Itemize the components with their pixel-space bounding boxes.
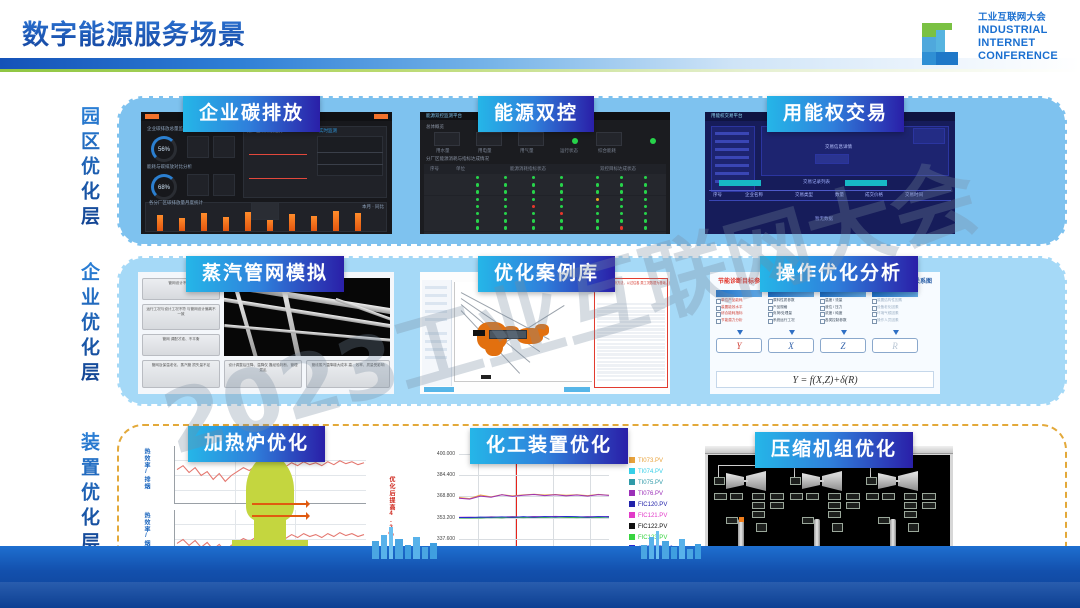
legend-swatch [629,534,635,540]
case-scatter-plot [454,282,592,382]
legend-label: FIC120.PV [638,502,667,508]
steam-box-6: 管线蒸汽温降增大成本 高、效率、质量受影响 [306,360,390,388]
list-item [597,310,665,312]
legend-label: TI073.PV [638,458,663,464]
status-dot [596,219,599,222]
list-item [597,317,665,319]
table-row [424,217,666,224]
page-header: 数字能源服务场景 工业互联网大会 INDUSTRIAL INTERNET CON… [0,0,1080,92]
down-arrow-icon [737,330,743,335]
status-dot [476,219,479,222]
legend-swatch [629,468,635,474]
status-dot [476,183,479,186]
down-arrow-icon [789,330,795,335]
legend-label: FIC121.PV [638,513,667,519]
opa-formula: Y = f(X,Z)+δ(R) [716,371,934,388]
list-item [597,375,665,377]
steam-box-5: 设计调整后压降、温降仅 靠经验判断、管理混乱 [224,360,302,388]
header-accent-bar [0,58,1080,69]
table-row [424,181,666,188]
opa-item[interactable]: 节能潜力分析 [716,317,762,324]
opa-item[interactable]: 系统运行工况 [768,317,814,324]
card-title-optimization-case-library: 优化案例库 [478,256,615,292]
list-item [597,343,665,345]
opa-item[interactable]: 各类控制参数 [820,317,866,324]
list-item [597,332,665,334]
legend-swatch [629,479,635,485]
logo-line-conference: CONFERENCE [978,50,1070,63]
table-row [424,203,666,210]
list-item [597,371,665,373]
opa-variable-R: R [872,338,918,353]
status-dot [560,183,563,186]
legend-item: TI073.PV [629,456,673,467]
card-title-energy-dual-control: 能源双控 [478,96,594,132]
list-item [597,379,665,381]
opa-variable-Y: Y [716,338,762,353]
list-item [597,353,665,355]
list-item [597,303,665,305]
status-dot [620,219,623,222]
status-dot [620,183,623,186]
down-arrow-icon [841,330,847,335]
card-operation-optimization-analysis[interactable]: 节能诊断目标参数与影响因素分析 因子/关系图 单位产品能耗装置能效水平综合能耗指… [710,272,940,394]
logo-text: 工业互联网大会 INDUSTRIAL INTERNET CONFERENCE [978,12,1070,63]
card-carbon-emission[interactable]: 企业碳排放总量监控 56% 能耗与碳排放对比分析 68% 分厂区碳排放趋势 实时… [141,112,392,234]
legend-item: TI074.PV [629,467,673,478]
opa-column-1: 单位产品能耗装置能效水平综合能耗指标节能潜力分析 [716,290,762,323]
card-optimization-case-library[interactable]: 优化案例分析方法，以过往各 类工况数据为基础，归纳总结出 同类装置最优操作条件下… [420,272,670,394]
table-row [424,174,666,181]
list-item [597,335,665,337]
legend-item: FIC121.PV [629,511,673,522]
table-row [424,210,666,217]
conference-logo: 工业互联网大会 INDUSTRIAL INTERNET CONFERENCE [920,7,1070,79]
list-item [597,361,665,363]
card-energy-dual-control[interactable]: 能源双控监测平台 总体概览 用水量 用电量 用气量 运行状态 综合能耗 分厂区能… [420,112,670,234]
legend-swatch [629,457,635,463]
opa-item[interactable]: 操作人员因素 [872,317,918,324]
down-arrow-icon [893,330,899,335]
y-axis-tick: 384.400 [437,472,455,478]
legend-swatch [629,523,635,529]
layer-label-park: 园区优化层 [62,106,102,231]
card-title-steam-pipe-simulation: 蒸汽管网模拟 [186,256,344,292]
footer-wave [0,582,1080,608]
city-skyline-left [370,525,440,564]
status-dot [644,219,647,222]
card-title-energy-rights-trading: 用能权交易 [767,96,904,132]
page-title: 数字能源服务场景 [22,13,246,52]
steam-box-4: 管网及保温老化、蒸汽管 损失量不足 [142,360,220,388]
status-dot [532,219,535,222]
steam-box-2: 运行工况与设计工况不符 与管网设计偏离不一致 [142,304,220,330]
legend-label: TI075.PV [638,480,663,486]
status-dot [532,183,535,186]
header-accent-bar-green [0,69,1080,72]
list-item [597,314,665,316]
opa-variable-Z: Z [820,338,866,353]
card-title-chemical-plant-optimization: 化工装置优化 [470,428,628,464]
layer-label-enterprise: 企业优化层 [62,262,102,387]
card-energy-rights-trading[interactable]: 用能权交易平台 交易信息详情 交易记录列表 序号 企业名称 交易类型 数量 成交… [705,112,955,234]
list-item [597,368,665,370]
opa-variable-X: X [768,338,814,353]
y-axis-tick: 368.800 [437,493,455,499]
list-item [597,321,665,323]
y-axis-tick: 353.200 [437,515,455,521]
status-dot [644,183,647,186]
list-item [597,328,665,330]
chemical-line-chart: 400.000384.400368.800353.200337.600322.0… [459,454,609,560]
opa-column-2: 原料性质参数产品规格负荷/处理量系统运行工况 [768,290,814,323]
case-result-table: 优化案例分析方法，以过往各 类工况数据为基础，归纳总结出 同类装置最优操作条件下… [594,278,668,388]
opa-column-head [716,290,762,297]
logo-mark-icon [920,19,972,71]
list-item [597,339,665,341]
list-item [597,346,665,348]
status-dot [504,183,507,186]
furnace-ylabel-top: 热效率/排烟 [142,448,151,490]
list-item [597,325,665,327]
legend-item: TI076.PV [629,489,673,500]
card-title-heating-furnace-optimization: 加热炉优化 [188,426,325,462]
list-item [597,350,665,352]
table-row [424,224,666,231]
logo-line-internet: INTERNET [978,37,1070,50]
table-row [424,232,666,234]
opa-column-3: 温度 / 流量液位 / 压力浓度 / 纯度各类控制参数 [820,290,866,323]
table-row [424,196,666,203]
legend-swatch [629,501,635,507]
steam-box-3: 管网 调配才准、不平衡 [142,334,220,356]
card-title-operation-optimization-analysis: 操作优化分析 [760,256,918,292]
card-steam-pipe-simulation[interactable]: 管网设计不合理 运行工况与设计工况不符 与管网设计偏离不一致 管网 调配才准、不… [138,272,394,394]
page-footer [0,546,1080,608]
card-title-compressor-unit-optimization: 压缩机组优化 [755,432,913,468]
legend-item: FIC120.PV [629,500,673,511]
list-item [597,357,665,359]
status-dot [560,219,563,222]
city-skyline-right [640,529,702,564]
y-axis-tick: 400.000 [437,451,455,457]
legend-item: TI075.PV [629,478,673,489]
list-item [597,307,665,309]
legend-swatch [629,490,635,496]
card-title-carbon-emission: 企业碳排放 [183,96,320,132]
status-dot [504,219,507,222]
logo-line-industrial: INDUSTRIAL [978,24,1070,37]
legend-swatch [629,512,635,518]
legend-label: TI076.PV [638,491,663,497]
table-row [424,188,666,195]
legend-label: TI074.PV [638,469,663,475]
logo-title-cn: 工业互联网大会 [978,12,1070,24]
layer-label-device: 装置优化层 [62,432,102,557]
status-dot [596,183,599,186]
list-item [597,364,665,366]
opa-column-4: 装置结构性因素设备老化因素环境气候因素操作人员因素 [872,290,918,323]
